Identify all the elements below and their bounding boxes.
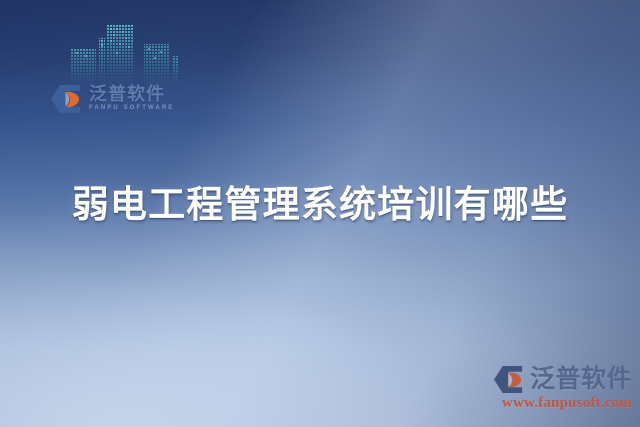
brand-name-en: FANPU SOFTWARE [89, 105, 174, 113]
promotional-banner: 泛普软件 FANPU SOFTWARE 弱电工程管理系统培训有哪些 泛普软件 w… [0, 0, 640, 427]
pixel-city-skyline-icon [68, 22, 194, 84]
brand-logo: 泛普软件 FANPU SOFTWARE [50, 84, 174, 114]
fanpu-hexagon-swoosh-logo-icon [50, 84, 84, 114]
watermark-url: www.fanpusoft.com [480, 395, 632, 412]
fanpu-hexagon-swoosh-logo-icon [493, 365, 526, 394]
watermark-name-cn: 泛普软件 [530, 367, 632, 392]
page-title: 弱电工程管理系统培训有哪些 [0, 182, 640, 228]
watermark-logo: 泛普软件 [480, 365, 632, 394]
brand-name-cn: 泛普软件 [89, 85, 174, 104]
watermark: 泛普软件 www.fanpusoft.com [480, 365, 632, 412]
brand-block: 泛普软件 FANPU SOFTWARE [46, 22, 226, 134]
